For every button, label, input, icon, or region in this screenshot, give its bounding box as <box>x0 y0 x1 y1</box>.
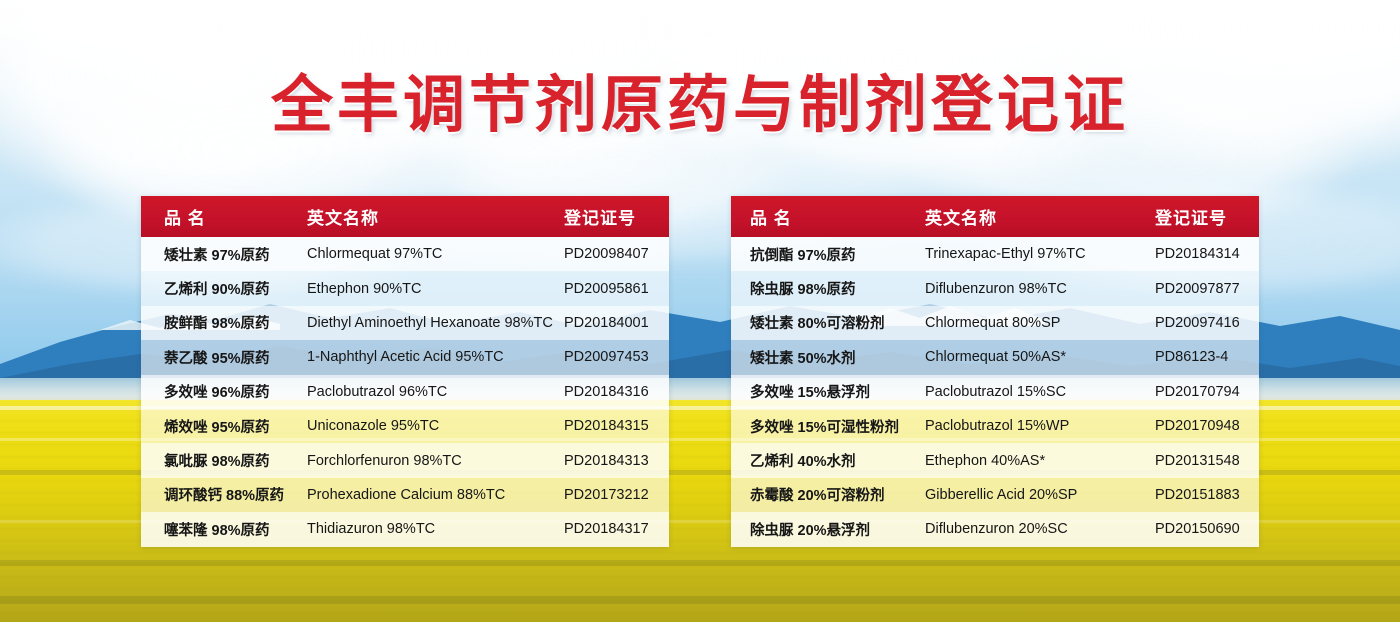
cell-registration: PD20098407 <box>564 246 669 262</box>
cell-english-name: Diflubenzuron 20%SC <box>925 521 1155 537</box>
table-row: 抗倒酯 97%原药Trinexapac-Ethyl 97%TCPD2018431… <box>731 237 1259 271</box>
registration-table-left: 品 名 英文名称 登记证号 矮壮素 97%原药Chlormequat 97%TC… <box>141 196 669 547</box>
cell-registration: PD20184313 <box>564 453 669 469</box>
cell-product-name: 噻苯隆 98%原药 <box>141 519 307 540</box>
table-row: 烯效唑 95%原药Uniconazole 95%TCPD20184315 <box>141 409 669 443</box>
cell-english-name: Chlormequat 97%TC <box>307 246 564 262</box>
cell-registration: PD20150690 <box>1155 521 1259 537</box>
table-row: 除虫脲 98%原药Diflubenzuron 98%TCPD20097877 <box>731 271 1259 305</box>
cell-product-name: 多效唑 15%悬浮剂 <box>731 381 925 402</box>
cell-product-name: 赤霉酸 20%可溶粉剂 <box>731 484 925 505</box>
column-header-english-name: 英文名称 <box>925 204 1155 229</box>
field-stripe <box>0 560 1400 566</box>
table-row: 胺鲜酯 98%原药Diethyl Aminoethyl Hexanoate 98… <box>141 306 669 340</box>
cell-english-name: Paclobutrazol 96%TC <box>307 384 564 400</box>
cell-english-name: Diethyl Aminoethyl Hexanoate 98%TC <box>307 315 564 331</box>
cell-registration: PD20173212 <box>564 487 669 503</box>
cell-english-name: Uniconazole 95%TC <box>307 418 564 434</box>
cell-product-name: 调环酸钙 88%原药 <box>141 484 307 505</box>
table-header-row: 品 名 英文名称 登记证号 <box>731 196 1259 237</box>
title-container: 全丰调节剂原药与制剂登记证 <box>0 72 1400 139</box>
column-header-english-name: 英文名称 <box>307 204 564 229</box>
cell-english-name: Thidiazuron 98%TC <box>307 521 564 537</box>
table-body-right: 抗倒酯 97%原药Trinexapac-Ethyl 97%TCPD2018431… <box>731 237 1259 547</box>
table-row: 多效唑 15%悬浮剂Paclobutrazol 15%SCPD20170794 <box>731 375 1259 409</box>
column-header-product-name: 品 名 <box>731 204 925 229</box>
cell-english-name: 1-Naphthyl Acetic Acid 95%TC <box>307 349 564 365</box>
field-stripe <box>0 596 1400 604</box>
cell-product-name: 乙烯利 40%水剂 <box>731 450 925 471</box>
cell-product-name: 抗倒酯 97%原药 <box>731 244 925 265</box>
cell-registration: PD20097453 <box>564 349 669 365</box>
table-row: 多效唑 15%可湿性粉剂Paclobutrazol 15%WPPD2017094… <box>731 409 1259 443</box>
cell-registration: PD86123-4 <box>1155 349 1259 365</box>
cell-registration: PD20095861 <box>564 281 669 297</box>
cell-product-name: 氯吡脲 98%原药 <box>141 450 307 471</box>
registration-table-right: 品 名 英文名称 登记证号 抗倒酯 97%原药Trinexapac-Ethyl … <box>731 196 1259 547</box>
cell-product-name: 多效唑 96%原药 <box>141 381 307 402</box>
cell-registration: PD20170948 <box>1155 418 1259 434</box>
table-row: 萘乙酸 95%原药1-Naphthyl Acetic Acid 95%TCPD2… <box>141 340 669 374</box>
cell-registration: PD20184001 <box>564 315 669 331</box>
cell-product-name: 萘乙酸 95%原药 <box>141 347 307 368</box>
table-row: 噻苯隆 98%原药Thidiazuron 98%TCPD20184317 <box>141 512 669 546</box>
table-row: 多效唑 96%原药Paclobutrazol 96%TCPD20184316 <box>141 375 669 409</box>
page-title: 全丰调节剂原药与制剂登记证 <box>271 72 1129 139</box>
cell-english-name: Paclobutrazol 15%WP <box>925 418 1155 434</box>
table-row: 乙烯利 40%水剂Ethephon 40%AS*PD20131548 <box>731 443 1259 477</box>
column-header-product-name: 品 名 <box>141 204 307 229</box>
cell-registration: PD20097877 <box>1155 281 1259 297</box>
table-row: 氯吡脲 98%原药Forchlorfenuron 98%TCPD20184313 <box>141 443 669 477</box>
cell-product-name: 除虫脲 20%悬浮剂 <box>731 519 925 540</box>
cell-product-name: 矮壮素 80%可溶粉剂 <box>731 312 925 333</box>
cell-english-name: Forchlorfenuron 98%TC <box>307 453 564 469</box>
table-row: 赤霉酸 20%可溶粉剂Gibberellic Acid 20%SPPD20151… <box>731 478 1259 512</box>
cell-product-name: 除虫脲 98%原药 <box>731 278 925 299</box>
table-row: 矮壮素 50%水剂Chlormequat 50%AS*PD86123-4 <box>731 340 1259 374</box>
cell-product-name: 乙烯利 90%原药 <box>141 278 307 299</box>
cell-registration: PD20151883 <box>1155 487 1259 503</box>
cell-registration: PD20184316 <box>564 384 669 400</box>
table-row: 乙烯利 90%原药Ethephon 90%TCPD20095861 <box>141 271 669 305</box>
cell-registration: PD20184314 <box>1155 246 1259 262</box>
cell-registration: PD20097416 <box>1155 315 1259 331</box>
cell-product-name: 矮壮素 97%原药 <box>141 244 307 265</box>
poster-canvas: 全丰调节剂原药与制剂登记证 品 名 英文名称 登记证号 矮壮素 97%原药Chl… <box>0 0 1400 622</box>
cell-registration: PD20170794 <box>1155 384 1259 400</box>
cell-english-name: Paclobutrazol 15%SC <box>925 384 1155 400</box>
column-header-registration: 登记证号 <box>1155 204 1259 229</box>
table-row: 调环酸钙 88%原药Prohexadione Calcium 88%TCPD20… <box>141 478 669 512</box>
cell-english-name: Diflubenzuron 98%TC <box>925 281 1155 297</box>
cell-english-name: Ethephon 40%AS* <box>925 453 1155 469</box>
cell-product-name: 烯效唑 95%原药 <box>141 416 307 437</box>
cell-product-name: 多效唑 15%可湿性粉剂 <box>731 416 925 437</box>
cell-english-name: Gibberellic Acid 20%SP <box>925 487 1155 503</box>
table-body-left: 矮壮素 97%原药Chlormequat 97%TCPD20098407乙烯利 … <box>141 237 669 547</box>
cell-english-name: Ethephon 90%TC <box>307 281 564 297</box>
table-row: 除虫脲 20%悬浮剂Diflubenzuron 20%SCPD20150690 <box>731 512 1259 546</box>
cell-english-name: Trinexapac-Ethyl 97%TC <box>925 246 1155 262</box>
column-header-registration: 登记证号 <box>564 204 669 229</box>
cell-registration: PD20184315 <box>564 418 669 434</box>
cell-product-name: 矮壮素 50%水剂 <box>731 347 925 368</box>
cell-registration: PD20131548 <box>1155 453 1259 469</box>
cell-english-name: Chlormequat 80%SP <box>925 315 1155 331</box>
cell-registration: PD20184317 <box>564 521 669 537</box>
table-header-row: 品 名 英文名称 登记证号 <box>141 196 669 237</box>
cell-english-name: Prohexadione Calcium 88%TC <box>307 487 564 503</box>
cell-product-name: 胺鲜酯 98%原药 <box>141 312 307 333</box>
cell-english-name: Chlormequat 50%AS* <box>925 349 1155 365</box>
table-row: 矮壮素 97%原药Chlormequat 97%TCPD20098407 <box>141 237 669 271</box>
table-row: 矮壮素 80%可溶粉剂Chlormequat 80%SPPD20097416 <box>731 306 1259 340</box>
